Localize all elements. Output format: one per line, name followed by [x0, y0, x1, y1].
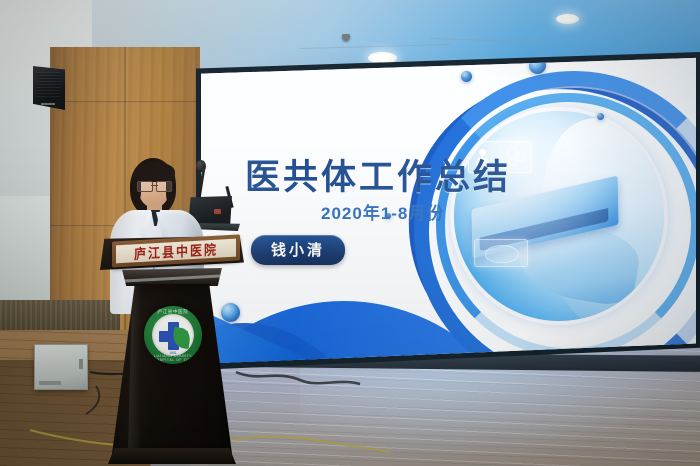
speaker-label	[41, 103, 55, 105]
laptop-logo	[214, 209, 221, 214]
photo-highlight	[454, 111, 664, 321]
podium: 庐江县中医院 庐江县中医院 LUJIANG COUNTY HOSPITAL OF…	[98, 236, 246, 466]
decorative-bubble	[597, 113, 604, 120]
nameplate-face: 庐江县中医院	[116, 239, 236, 264]
box-label	[39, 381, 61, 385]
podium-base	[108, 448, 236, 464]
slide-ring-graphic	[406, 61, 696, 365]
emblem-year: 1951	[144, 351, 202, 355]
presentation-slide: 医共体工作总结 2020年1-8月份 钱小清	[201, 57, 696, 365]
downlight	[556, 14, 579, 24]
podium-sheen	[128, 286, 142, 451]
hospital-emblem: 庐江县中医院 LUJIANG COUNTY HOSPITAL OF TCM 19…	[144, 306, 202, 364]
hair-front	[134, 162, 175, 182]
slide-subtitle: 2020年1-8月份	[321, 199, 444, 224]
presenter-name-badge: 钱小清	[251, 235, 345, 265]
box-latch	[79, 359, 83, 369]
lens-left	[137, 181, 153, 192]
eyeglasses-icon	[137, 181, 172, 191]
speaker-grille	[37, 72, 61, 98]
ring-photo	[454, 111, 664, 321]
wall-speaker	[33, 66, 65, 110]
screen-panel: 医共体工作总结 2020年1-8月份 钱小清	[201, 57, 696, 365]
nameplate-text: 庐江县中医院	[134, 239, 218, 263]
decorative-bubble	[461, 71, 472, 82]
lens-right	[156, 181, 172, 192]
slide-title: 医共体工作总结	[245, 149, 511, 200]
electrical-box	[34, 344, 88, 390]
presentation-photo: 医共体工作总结 2020年1-8月份 钱小清	[0, 0, 700, 466]
glasses-bridge	[151, 185, 158, 186]
left-wall-lower	[0, 196, 56, 316]
led-display[interactable]: 医共体工作总结 2020年1-8月份 钱小清	[196, 52, 700, 370]
